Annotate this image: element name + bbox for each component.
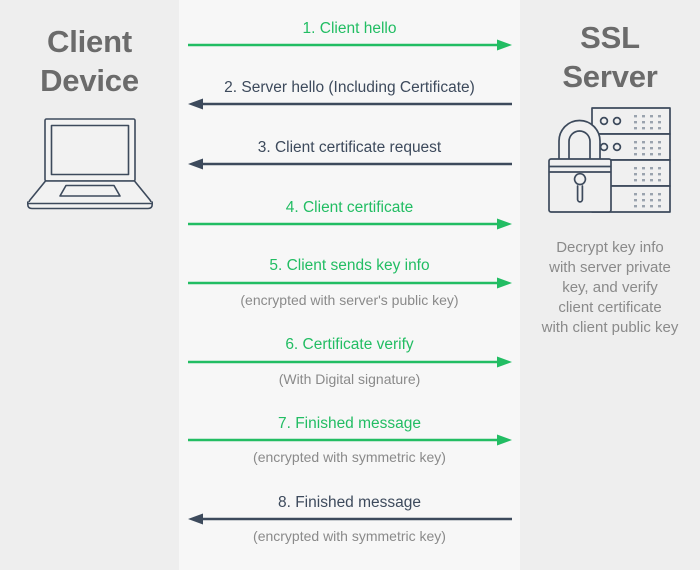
message-sublabel-6: (With Digital signature)	[179, 370, 520, 388]
message-sublabel-5: (encrypted with server's public key)	[179, 291, 520, 309]
arrow-backward-8	[188, 513, 512, 525]
client-title-line1: Client	[0, 22, 179, 61]
client-title: Client Device	[0, 22, 179, 100]
message-label-7: 7. Finished message	[179, 414, 520, 433]
server-note-line: Decrypt key info	[524, 238, 696, 258]
client-icon-wrap	[0, 112, 179, 217]
message-label-3: 3. Client certificate request	[179, 138, 520, 157]
message-label-5: 5. Client sends key info	[179, 256, 520, 275]
arrow-forward-7	[188, 434, 512, 446]
ssl-handshake-diagram: Client Device	[0, 0, 700, 570]
message-sublabel-8: (encrypted with symmetric key)	[179, 527, 520, 545]
message-label-2: 2. Server hello (Including Certificate)	[179, 78, 520, 97]
message-label-8: 8. Finished message	[179, 493, 520, 512]
arrow-forward-1	[188, 39, 512, 51]
client-column: Client Device	[0, 0, 179, 570]
server-lock-icon	[546, 209, 674, 226]
server-note-line: with client public key	[524, 318, 696, 338]
arrow-forward-6	[188, 356, 512, 368]
message-label-4: 4. Client certificate	[179, 198, 520, 217]
server-title: SSL Server	[520, 18, 700, 96]
message-label-6: 6. Certificate verify	[179, 335, 520, 354]
server-note-line: with server private	[524, 258, 696, 278]
server-title-line1: SSL	[520, 18, 700, 57]
client-title-line2: Device	[0, 61, 179, 100]
message-sublabel-7: (encrypted with symmetric key)	[179, 448, 520, 466]
server-note-line: client certificate	[524, 298, 696, 318]
server-note: Decrypt key info with server private key…	[524, 238, 696, 338]
server-note-line: key, and verify	[524, 278, 696, 298]
laptop-icon	[25, 199, 155, 216]
server-title-line2: Server	[520, 57, 700, 96]
server-column: SSL Server	[520, 0, 700, 570]
arrow-backward-2	[188, 98, 512, 110]
arrow-forward-4	[188, 218, 512, 230]
arrow-backward-3	[188, 158, 512, 170]
arrow-forward-5	[188, 277, 512, 289]
server-icon-wrap	[520, 104, 700, 227]
message-label-1: 1. Client hello	[179, 19, 520, 38]
